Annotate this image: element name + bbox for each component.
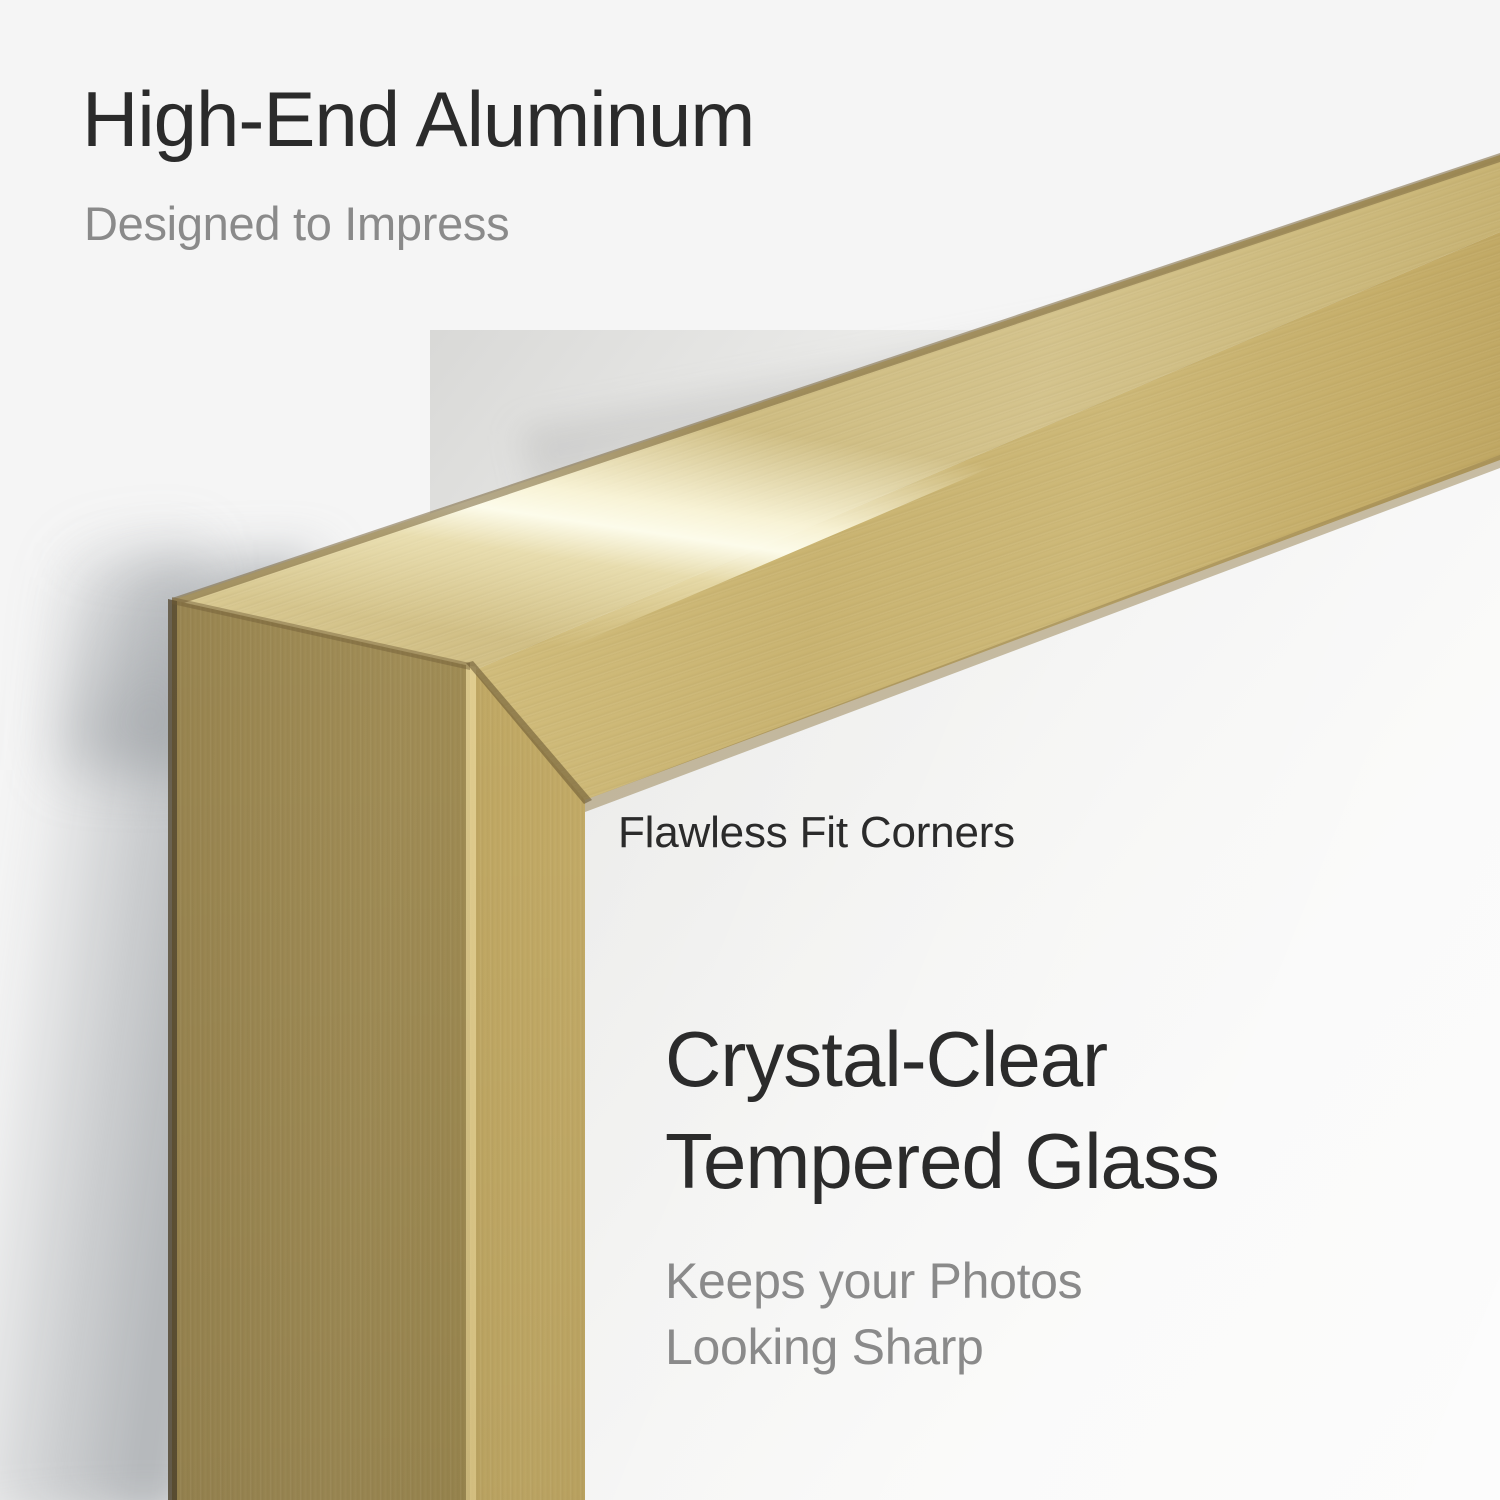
product-feature-image: High-End Aluminum Designed to Impress Fl… xyxy=(0,0,1500,1500)
callout-glass-title-line1: Crystal-Clear xyxy=(665,1008,1219,1110)
callout-glass-title: Crystal-Clear Tempered Glass xyxy=(665,1008,1219,1212)
page-subtitle: Designed to Impress xyxy=(84,196,509,251)
callout-flawless-fit-corners: Flawless Fit Corners xyxy=(618,808,1015,858)
callout-glass-subtitle-line2: Looking Sharp xyxy=(665,1314,1082,1380)
callout-glass-title-line2: Tempered Glass xyxy=(665,1110,1219,1212)
callout-glass-subtitle: Keeps your Photos Looking Sharp xyxy=(665,1248,1082,1380)
page-title: High-End Aluminum xyxy=(82,74,754,165)
callout-glass-subtitle-line1: Keeps your Photos xyxy=(665,1248,1082,1314)
